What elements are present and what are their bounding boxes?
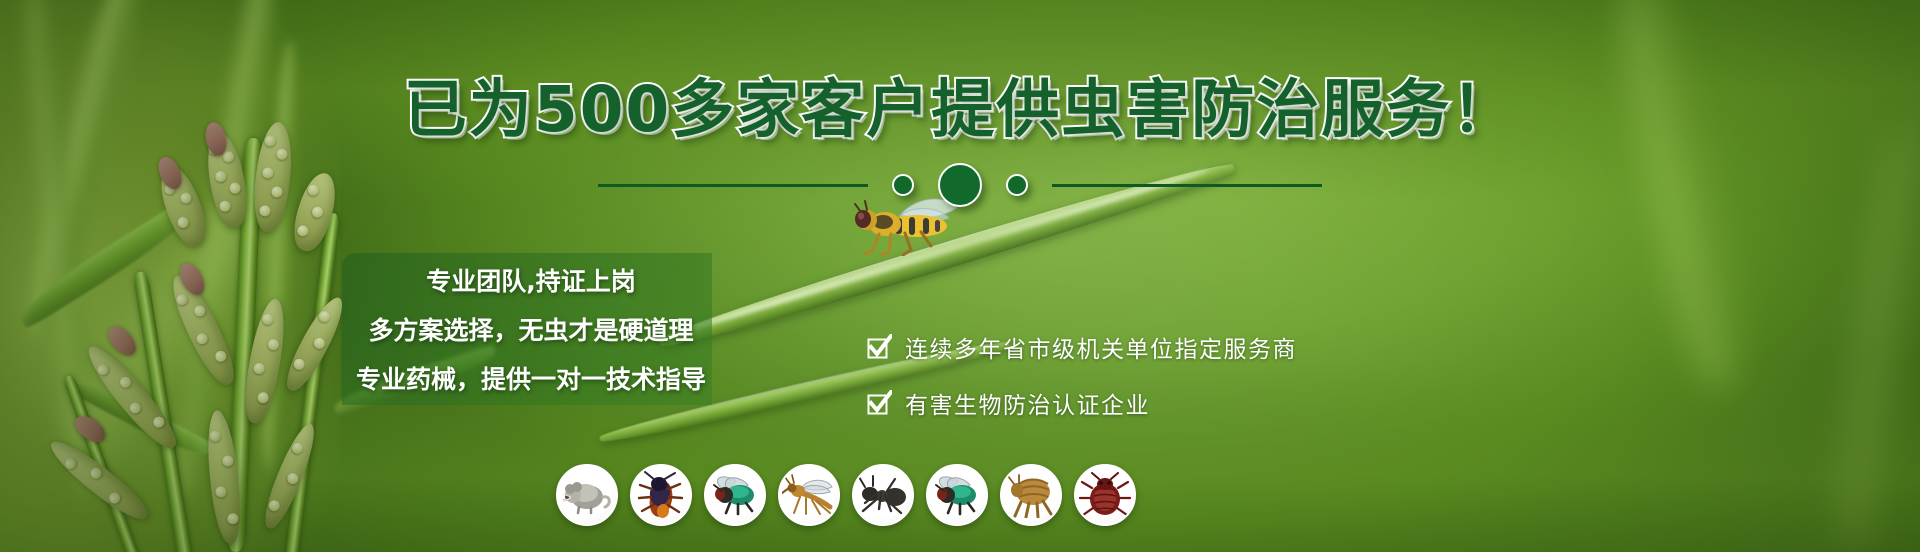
feature-line-1: 专业团队,持证上岗 (426, 262, 636, 298)
page-title: 已为500多家客户提供虫害防治服务！ (0, 78, 1920, 141)
divider-dot-small (892, 174, 914, 196)
rat-icon[interactable] (556, 464, 618, 526)
divider-line-right (1052, 184, 1322, 187)
bedbug-icon[interactable] (1074, 464, 1136, 526)
feature-line-2: 多方案选择，无虫才是硬道理 (368, 311, 693, 347)
fly-icon[interactable] (926, 464, 988, 526)
ant-icon[interactable] (852, 464, 914, 526)
divider-dot-small (1006, 174, 1028, 196)
feature-line-3: 专业药械，提供一对一技术指导 (356, 360, 706, 396)
divider-dot-large (938, 163, 982, 207)
features-panel-text: 专业团队,持证上岗 多方案选择，无虫才是硬道理 专业药械，提供一对一技术指导 (342, 253, 720, 405)
cockroach-icon[interactable] (630, 464, 692, 526)
promo-banner: 已为500多家客户提供虫害防治服务！ 专业团队,持证上岗 多方案选择，无虫才是硬… (0, 0, 1920, 552)
headline-text: 已为500多家客户提供虫害防治服务！ (404, 73, 1517, 146)
divider-line-left (598, 184, 868, 187)
certification-label: 有害生物防治认证企业 (905, 386, 1150, 420)
certification-label: 连续多年省市级机关单位指定服务商 (905, 330, 1297, 364)
flea-icon[interactable] (1000, 464, 1062, 526)
list-item: 连续多年省市级机关单位指定服务商 (866, 330, 1386, 364)
list-item: 有害生物防治认证企业 (866, 386, 1386, 420)
checkbox-checked-icon (866, 390, 892, 416)
certification-list: 连续多年省市级机关单位指定服务商 有害生物防治认证企业 (866, 330, 1386, 420)
decorative-divider (0, 160, 1920, 210)
mosquito-icon[interactable] (778, 464, 840, 526)
fly-icon[interactable] (704, 464, 766, 526)
pest-icon-row (556, 464, 1136, 526)
checkbox-checked-icon (866, 334, 892, 360)
